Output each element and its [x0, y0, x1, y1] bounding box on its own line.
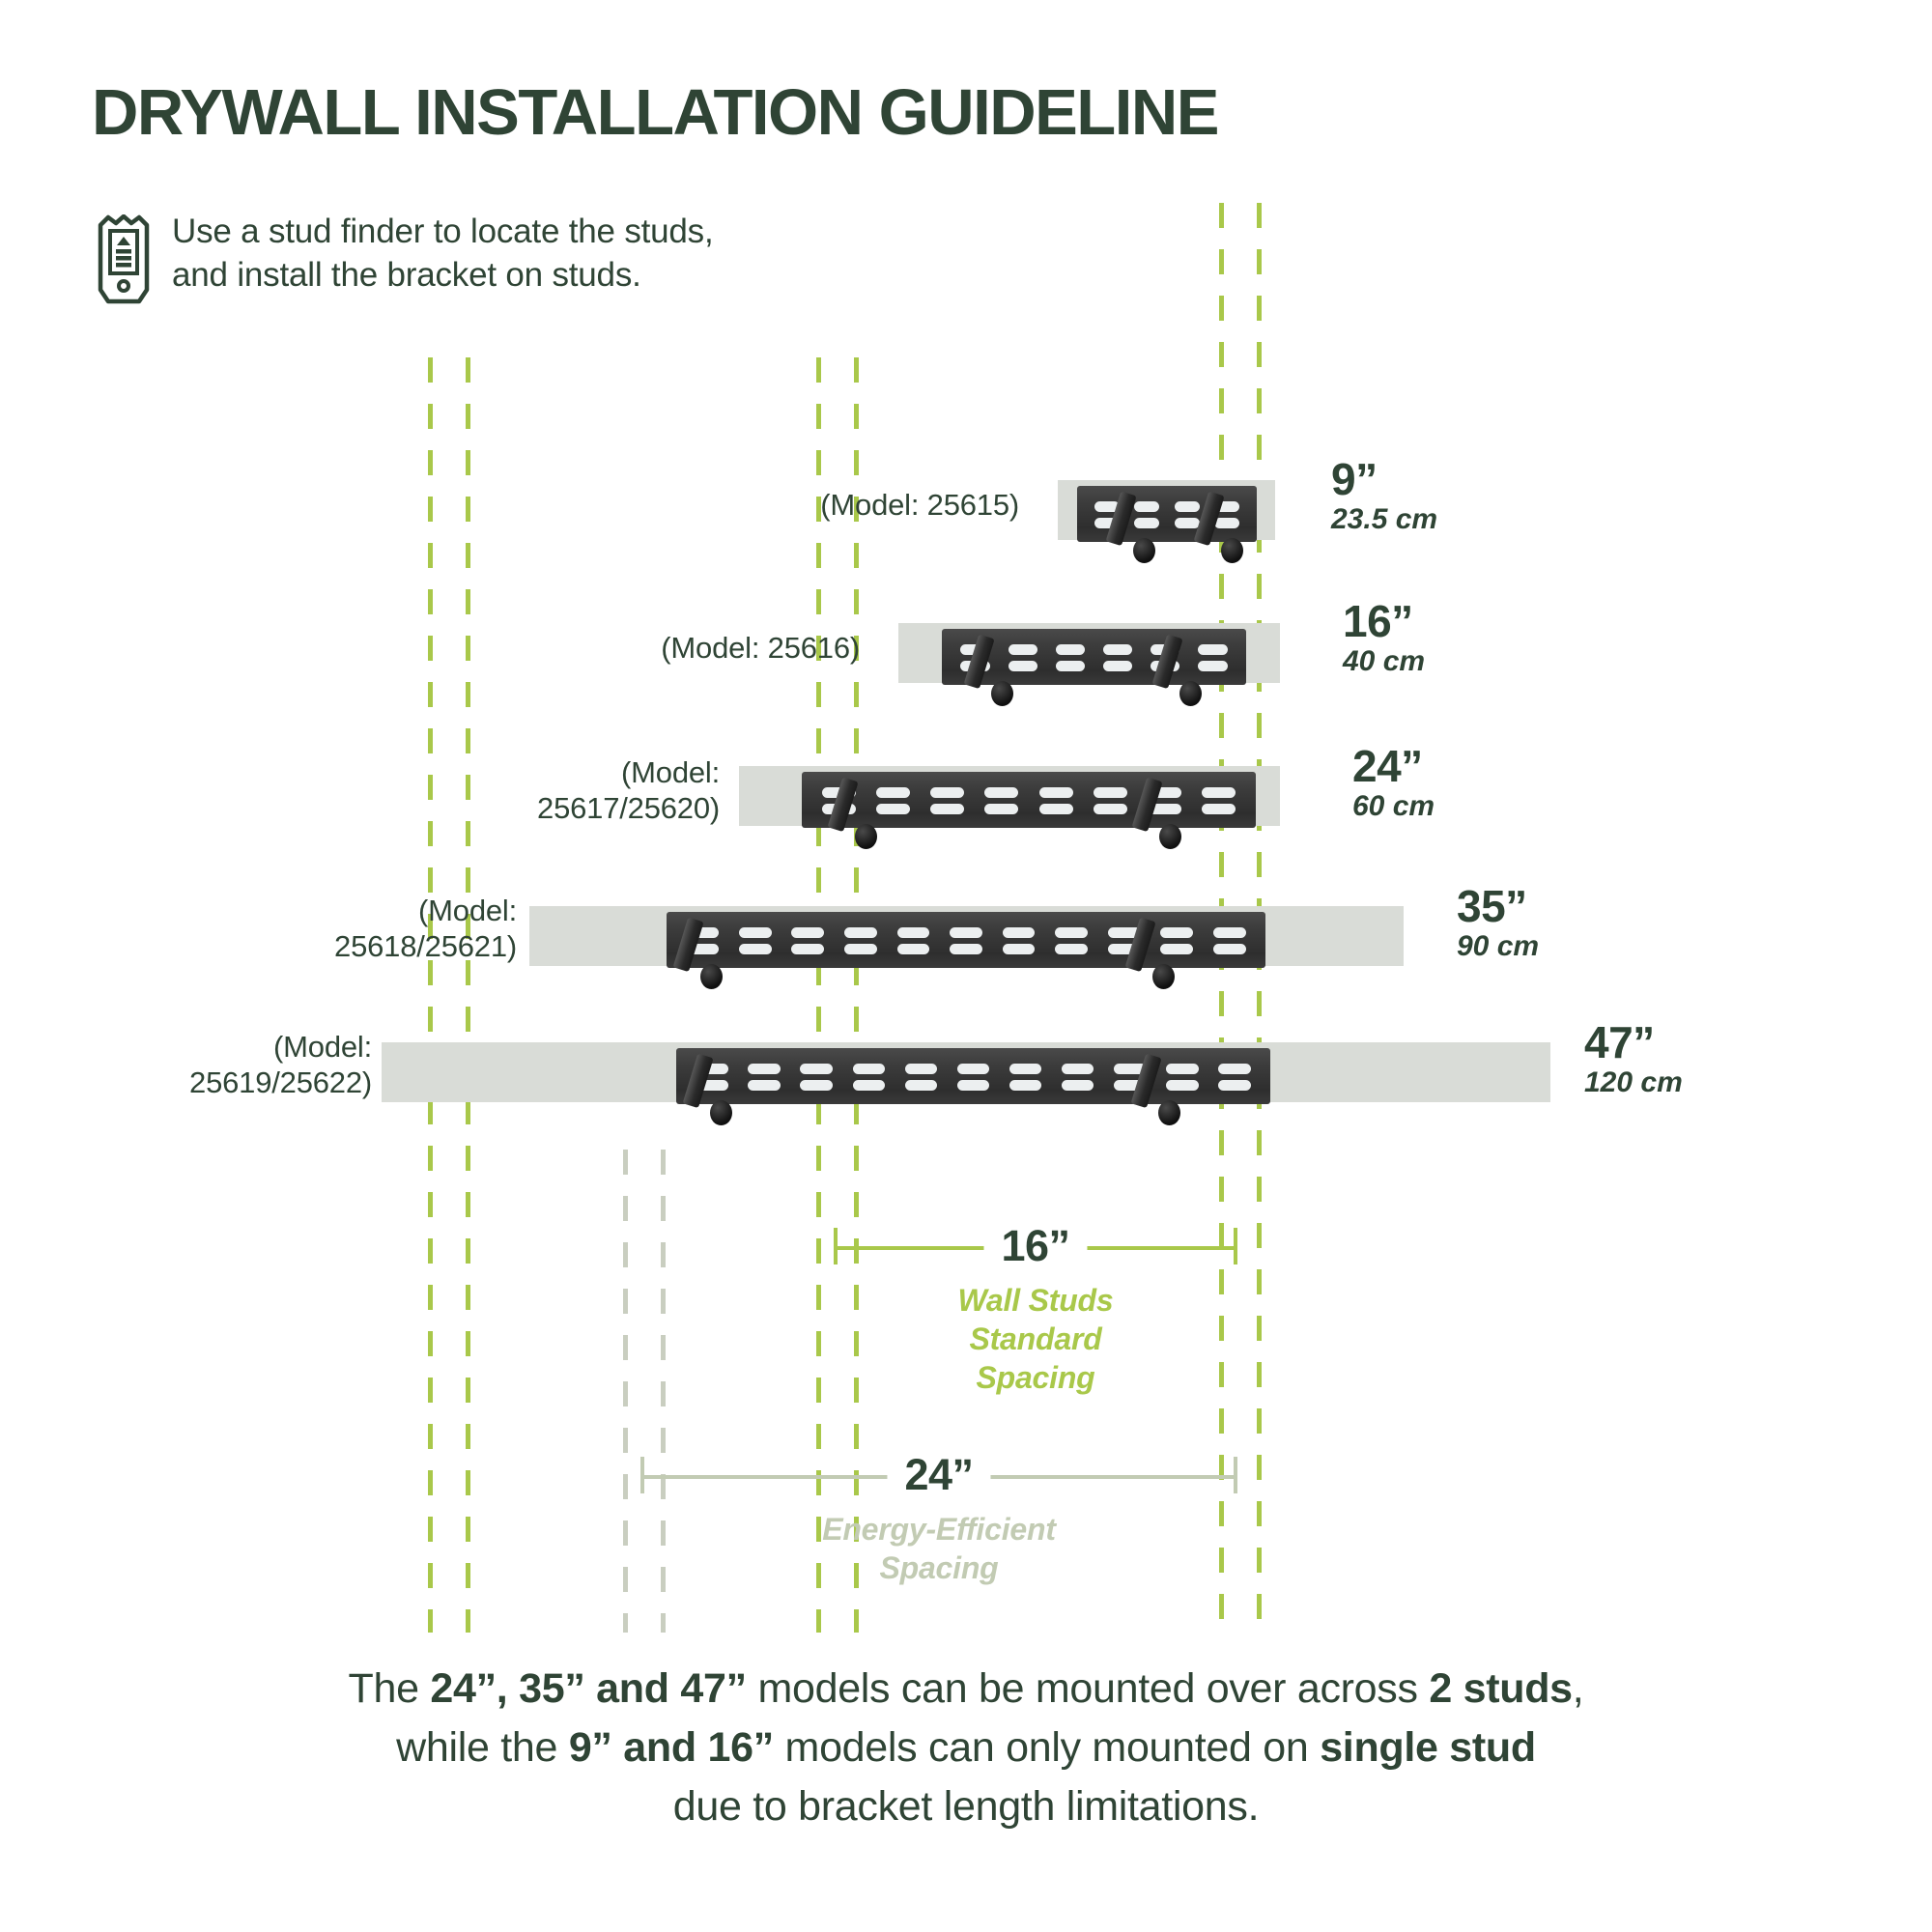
bracket-slot	[1175, 501, 1200, 512]
dimension-inches: 9”	[1331, 457, 1437, 501]
diagram-canvas: DRYWALL INSTALLATION GUIDELINE Use a stu…	[0, 0, 1932, 1932]
dimension-inches: 35”	[1457, 884, 1539, 928]
bracket-slot	[1039, 787, 1073, 798]
dimension-inches: 47”	[1584, 1020, 1683, 1065]
bracket-slot	[800, 1064, 833, 1074]
bracket-slot	[1003, 944, 1036, 954]
bracket-slots	[676, 1048, 1270, 1104]
dimension-cm: 60 cm	[1352, 788, 1435, 825]
stud-line-energy-mid-b	[661, 1150, 666, 1633]
bracket-slot	[905, 1064, 938, 1074]
dimension-cm: 23.5 cm	[1331, 501, 1437, 538]
bracket-slot	[950, 944, 982, 954]
measure-24: 24”Energy-Efficient Spacing	[640, 1456, 1237, 1494]
page-title: DRYWALL INSTALLATION GUIDELINE	[92, 75, 1218, 150]
measure-caption: Wall Studs Standard Spacing	[935, 1281, 1137, 1397]
model-label-row-16: (Model: 25616)	[638, 631, 860, 667]
footer-line-2: while the 9” and 16” models can only mou…	[116, 1719, 1816, 1777]
bracket-slot	[984, 787, 1018, 798]
measure-16: 16”Wall Studs Standard Spacing	[834, 1227, 1237, 1265]
bracket-slot	[853, 1080, 886, 1091]
footer-text: ,	[1573, 1665, 1584, 1712]
bracket-slot	[748, 1064, 781, 1074]
bracket-slot	[897, 927, 930, 938]
bracket-slot	[897, 944, 930, 954]
bracket-slot	[984, 804, 1018, 814]
bracket-slot	[1009, 1080, 1042, 1091]
bracket-slot	[957, 1080, 990, 1091]
stud-line-energy-left-a	[428, 357, 433, 1633]
bracket-slot	[1198, 644, 1227, 655]
bracket-slot	[1009, 644, 1037, 655]
model-label-row-24: (Model: 25617/25620)	[483, 755, 720, 826]
footer-emphasis: 9” and 16”	[569, 1724, 774, 1771]
dimension-label-row-47: 47”120 cm	[1584, 1020, 1683, 1101]
peg-cap	[1221, 538, 1243, 563]
bracket-row-24	[802, 772, 1256, 828]
bracket-slot	[1134, 501, 1159, 512]
bracket-slot	[1062, 1064, 1094, 1074]
bracket-slot	[1056, 644, 1085, 655]
stud-line-standard-left-a	[816, 357, 821, 1633]
bracket-slot	[876, 787, 910, 798]
measure-value: 24”	[887, 1450, 990, 1500]
dimension-cm: 90 cm	[1457, 928, 1539, 965]
model-label-row-47: (Model: 25619/25622)	[135, 1030, 372, 1100]
bracket-slot	[748, 1080, 781, 1091]
bracket-slot	[1094, 804, 1127, 814]
measure-value: 16”	[983, 1221, 1087, 1271]
stud-line-energy-left-b	[466, 357, 470, 1633]
dimension-label-row-24: 24”60 cm	[1352, 744, 1435, 825]
footer-emphasis: 24”, 35” and 47”	[430, 1665, 746, 1712]
bracket-row-35	[667, 912, 1265, 968]
dimension-label-row-35: 35”90 cm	[1457, 884, 1539, 965]
stud-finder-note: Use a stud finder to locate the studs, a…	[97, 211, 714, 305]
bracket-slots	[1077, 486, 1257, 542]
peg-cap	[1133, 538, 1155, 563]
peg-cap	[1158, 1100, 1180, 1125]
bracket-slot	[844, 944, 877, 954]
stud-line-energy-mid-a	[623, 1150, 628, 1633]
model-label-row-35: (Model: 25618/25621)	[280, 894, 517, 964]
footer-text: while the	[396, 1724, 569, 1771]
bracket-slot	[950, 927, 982, 938]
bracket-slot	[1055, 927, 1088, 938]
bracket-slot	[1056, 661, 1085, 671]
dimension-label-row-16: 16”40 cm	[1343, 599, 1425, 680]
bracket-slot	[1218, 1064, 1251, 1074]
measure-end-tick	[1234, 1228, 1237, 1264]
bracket-slot	[1062, 1080, 1094, 1091]
dimension-cm: 40 cm	[1343, 643, 1425, 680]
bracket-slot	[1214, 518, 1239, 528]
bracket-slot	[1213, 944, 1246, 954]
bracket-slots	[802, 772, 1256, 828]
bracket-slot	[739, 927, 772, 938]
bracket-row-47	[676, 1048, 1270, 1104]
bracket-slot	[1202, 804, 1236, 814]
peg-cap	[700, 964, 723, 989]
bracket-slot	[1166, 1064, 1199, 1074]
peg-cap	[1179, 681, 1202, 706]
bracket-slot	[791, 944, 824, 954]
bracket-slot	[1003, 927, 1036, 938]
bracket-slot	[1160, 944, 1193, 954]
peg-cap	[991, 681, 1013, 706]
bracket-slot	[1198, 661, 1227, 671]
bracket-slot	[930, 804, 964, 814]
bracket-slot	[1009, 1064, 1042, 1074]
bracket-slot	[1160, 927, 1193, 938]
bracket-slot	[800, 1080, 833, 1091]
footer-emphasis: 2 studs	[1429, 1665, 1572, 1712]
bracket-slot	[853, 1064, 886, 1074]
peg-cap	[710, 1100, 732, 1125]
footer-text: models can be mounted over across	[747, 1665, 1430, 1712]
footer-text: The	[349, 1665, 431, 1712]
peg-cap	[855, 824, 877, 849]
bracket-slot	[1218, 1080, 1251, 1091]
bracket-slot	[1166, 1080, 1199, 1091]
dimension-inches: 24”	[1352, 744, 1435, 788]
bracket-slot	[1039, 804, 1073, 814]
bracket-slot	[1202, 787, 1236, 798]
footer-line-3: due to bracket length limitations.	[116, 1777, 1816, 1836]
bracket-slot	[905, 1080, 938, 1091]
bracket-slot	[1175, 518, 1200, 528]
stud-finder-icon	[97, 214, 151, 305]
footer-emphasis: single stud	[1320, 1724, 1536, 1771]
footer-caption: The 24”, 35” and 47” models can be mount…	[0, 1660, 1932, 1836]
bracket-row-16	[942, 629, 1246, 685]
bracket-slot	[1213, 927, 1246, 938]
bracket-slot	[876, 804, 910, 814]
bracket-slot	[930, 787, 964, 798]
stud-finder-note-text: Use a stud finder to locate the studs, a…	[172, 211, 714, 298]
footer-line-1: The 24”, 35” and 47” models can be mount…	[116, 1660, 1816, 1719]
bracket-row-9	[1077, 486, 1257, 542]
dimension-cm: 120 cm	[1584, 1065, 1683, 1101]
bracket-slots	[667, 912, 1265, 968]
bracket-slot	[844, 927, 877, 938]
measure-caption: Energy-Efficient Spacing	[790, 1510, 1089, 1587]
footer-text: models can only mounted on	[774, 1724, 1320, 1771]
bracket-slot	[739, 944, 772, 954]
dimension-inches: 16”	[1343, 599, 1425, 643]
bracket-slot	[1094, 787, 1127, 798]
peg-cap	[1159, 824, 1181, 849]
peg-cap	[1152, 964, 1175, 989]
stud-line-standard-left-b	[854, 357, 859, 1633]
measure-end-tick	[1234, 1457, 1237, 1493]
measure-end-tick	[640, 1457, 644, 1493]
bracket-slot	[957, 1064, 990, 1074]
measure-end-tick	[834, 1228, 838, 1264]
model-label-row-9: (Model: 25615)	[797, 488, 1019, 524]
dimension-label-row-9: 9”23.5 cm	[1331, 457, 1437, 538]
bracket-slot	[1055, 944, 1088, 954]
bracket-slot	[1134, 518, 1159, 528]
bracket-slot	[1103, 661, 1132, 671]
bracket-slot	[1103, 644, 1132, 655]
bracket-slot	[791, 927, 824, 938]
bracket-slot	[1009, 661, 1037, 671]
